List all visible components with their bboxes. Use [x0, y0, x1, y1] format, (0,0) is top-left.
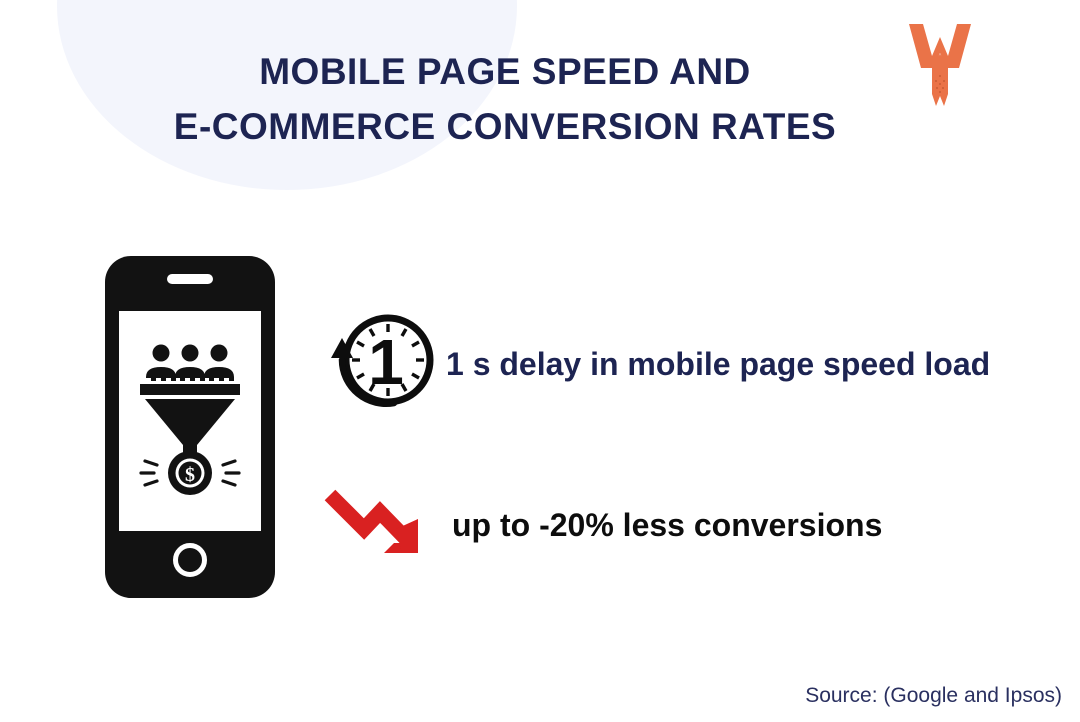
infographic-canvas: MOBILE PAGE SPEED AND E-COMMERCE CONVERS…: [0, 0, 1080, 722]
clock-numeral: 1: [368, 326, 404, 398]
source-note: Source: (Google and Ipsos): [805, 684, 1062, 708]
stat-text-conversions: up to -20% less conversions: [452, 507, 882, 544]
stat-text-delay: 1 s delay in mobile page speed load: [446, 346, 990, 383]
mobile-phone-illustration: $: [105, 256, 275, 598]
title-line-1: MOBILE PAGE SPEED AND: [130, 44, 880, 99]
wp-rocket-logo-icon: [905, 20, 975, 112]
conversion-funnel-icon: $: [135, 341, 245, 501]
stat-row-conversions: up to -20% less conversions: [318, 485, 882, 565]
phone-screen: $: [119, 311, 261, 531]
svg-text:$: $: [185, 464, 195, 486]
page-title: MOBILE PAGE SPEED AND E-COMMERCE CONVERS…: [130, 44, 880, 154]
phone-speaker: [167, 274, 213, 284]
downward-trend-arrow-icon: [318, 485, 440, 565]
stat-row-delay: 1 1 s delay in mobile page speed load: [320, 308, 990, 420]
clock-one-second-icon: 1: [320, 308, 440, 420]
title-line-2: E-COMMERCE CONVERSION RATES: [130, 99, 880, 154]
phone-home-button: [173, 543, 207, 577]
